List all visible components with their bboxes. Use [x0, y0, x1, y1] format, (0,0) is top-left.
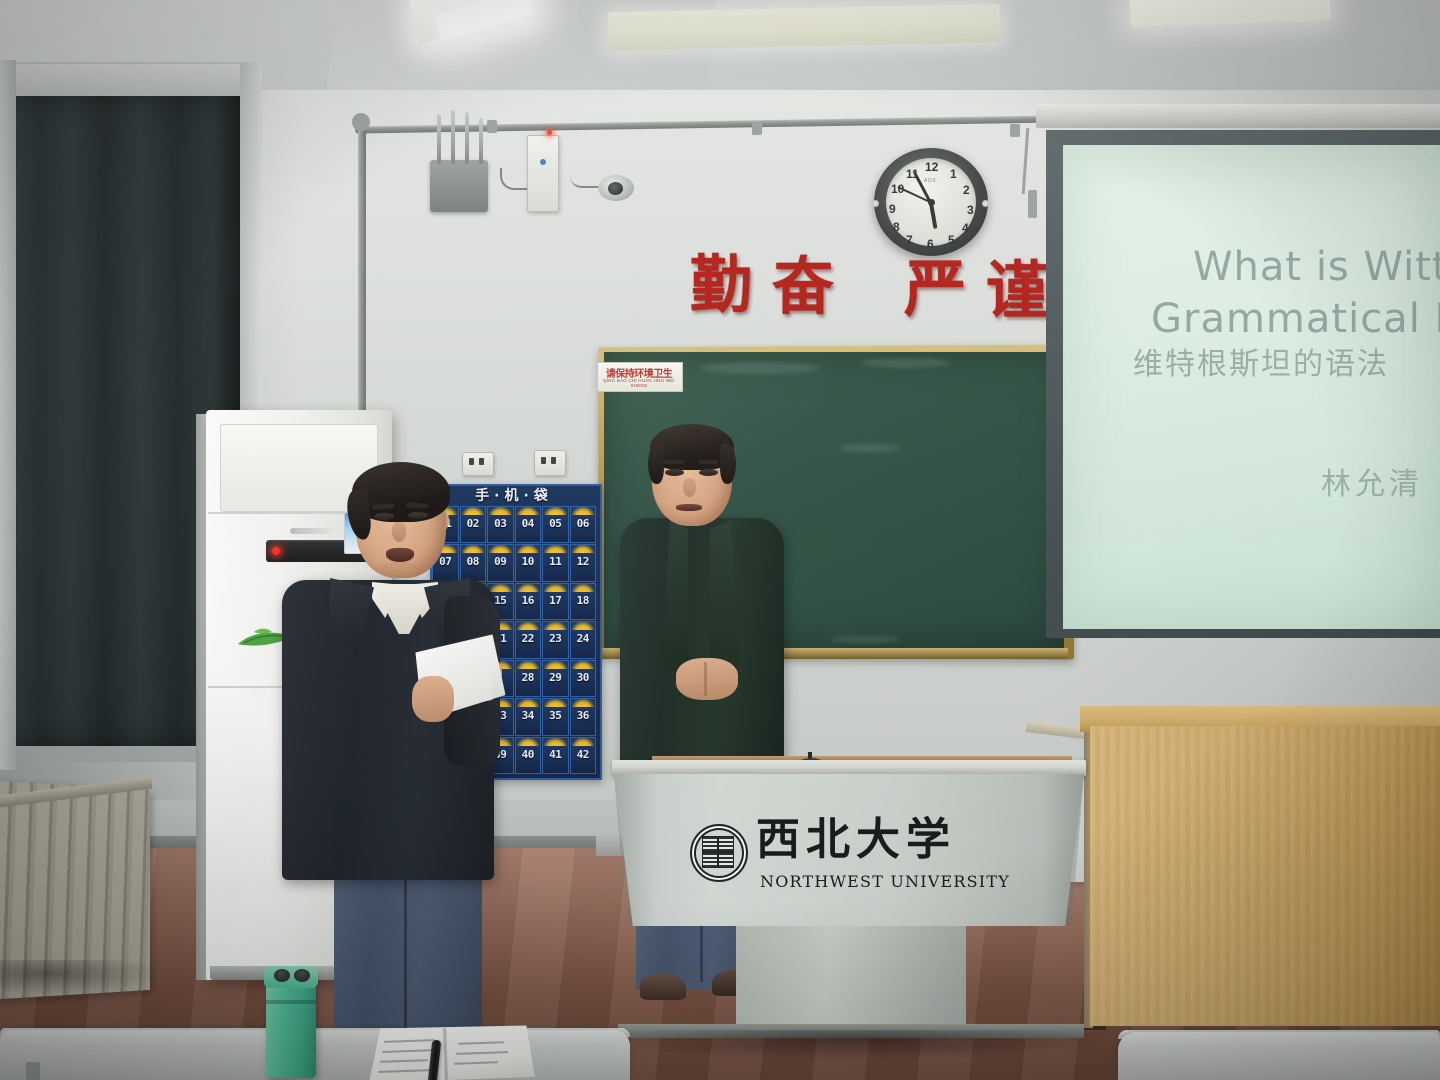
phone-pocket-30[interactable]: 30 — [570, 660, 597, 697]
sensor-wire — [570, 172, 600, 188]
phone-pocket-number: 41 — [543, 748, 568, 761]
ac-brand-logo — [290, 528, 336, 534]
clock-numeral: 2 — [963, 184, 970, 196]
projector-screen-rail — [1036, 104, 1440, 128]
phone-pocket-number: 03 — [488, 517, 513, 530]
thermos-handle-hole — [294, 969, 310, 982]
phone-pocket-number: 10 — [516, 555, 541, 568]
slide-title-line-2: Grammatical Inv — [1151, 295, 1440, 343]
phone-pocket-number: 35 — [543, 709, 568, 722]
front-desk-right — [1118, 1032, 1440, 1080]
phone-pocket-08[interactable]: 08 — [460, 544, 487, 581]
phone-pocket-05[interactable]: 05 — [542, 506, 569, 543]
clock-numeral: 1 — [950, 168, 957, 180]
phone-pocket-number: 11 — [543, 555, 568, 568]
wall-socket[interactable] — [534, 450, 566, 476]
chin — [380, 562, 418, 576]
chalk-smudge — [700, 362, 820, 374]
wall-box-button[interactable] — [540, 159, 546, 165]
wire-connector — [1028, 190, 1037, 218]
signal-jammer-icon — [430, 160, 488, 212]
clock-numeral: 5 — [948, 234, 955, 246]
phone-pocket-number: 22 — [516, 632, 541, 645]
phone-pocket-22[interactable]: 22 — [515, 621, 542, 658]
podium-university-name-en: NORTHWEST UNIVERSITY — [760, 872, 1020, 891]
wall-socket[interactable] — [462, 452, 494, 476]
phone-pocket-number: 05 — [543, 517, 568, 530]
phone-pocket-16[interactable]: 16 — [515, 583, 542, 620]
phone-pocket-03[interactable]: 03 — [487, 506, 514, 543]
phone-pocket-number: 16 — [516, 594, 541, 607]
chalk-smudge — [860, 358, 950, 368]
clock-numeral: 9 — [889, 203, 896, 215]
phone-pocket-42[interactable]: 42 — [570, 737, 597, 774]
radiator-shadow — [0, 960, 160, 994]
podium-university-name-cn: 西北大学 — [756, 812, 1026, 868]
socket-hole — [541, 457, 546, 464]
slogan-char: 谨 — [986, 258, 1048, 324]
phone-pocket-number: 29 — [543, 671, 568, 684]
screen-brand-label: . . . . . — [1070, 112, 1092, 118]
phone-pocket-09[interactable]: 09 — [487, 544, 514, 581]
ac-power-led-icon — [272, 547, 280, 555]
person-center-jacket — [620, 518, 784, 770]
mouth — [676, 504, 702, 511]
clock-numeral: 8 — [893, 221, 900, 233]
thermos-band — [266, 1000, 316, 1004]
phone-pocket-number: 24 — [571, 632, 596, 645]
desk-leg — [26, 1062, 40, 1080]
phone-pocket-10[interactable]: 10 — [515, 544, 542, 581]
phone-pocket-36[interactable]: 36 — [570, 698, 597, 735]
phone-pocket-number: 30 — [571, 671, 596, 684]
phone-pocket-17[interactable]: 17 — [542, 583, 569, 620]
phone-pocket-number: 09 — [488, 555, 513, 568]
antenna-icon — [479, 118, 483, 164]
slogan-char: 严 — [904, 256, 966, 322]
hand-separation — [704, 662, 707, 696]
phone-pocket-28[interactable]: 28 — [515, 660, 542, 697]
phone-pocket-number: 34 — [516, 709, 541, 722]
wall-control-box — [527, 135, 559, 212]
antenna-icon — [465, 112, 469, 164]
nose — [683, 478, 696, 497]
slogan-char: 奋 — [772, 254, 834, 320]
conduit-elbow — [352, 113, 370, 131]
clock-numeral: 4 — [962, 222, 969, 234]
phone-pocket-number: 06 — [571, 517, 596, 530]
thermos-lid[interactable] — [264, 966, 318, 988]
chalk-smudge — [830, 636, 900, 643]
socket-hole — [551, 457, 556, 464]
socket-hole — [479, 458, 484, 465]
phone-pocket-29[interactable]: 29 — [542, 660, 569, 697]
eye — [408, 512, 428, 519]
thermos-handle-hole — [274, 969, 290, 982]
chalk-smudge — [840, 444, 900, 452]
phone-pocket-number: 28 — [516, 671, 541, 684]
notice-subtitle: QING BAO CHI HUAN JING WEI SHENG — [600, 378, 678, 388]
phone-pocket-number: 08 — [461, 555, 486, 568]
phone-pocket-24[interactable]: 24 — [570, 621, 597, 658]
sensor-lens-icon — [608, 182, 623, 195]
antenna-icon — [451, 110, 455, 164]
phone-pocket-number: 18 — [571, 594, 596, 607]
person-center-hair-side — [720, 444, 736, 484]
person-center-hair-side — [648, 444, 664, 484]
phone-pocket-number: 40 — [516, 748, 541, 761]
slide-subtitle-cn: 维特根斯坦的语法 — [1133, 347, 1389, 383]
phone-pocket-11[interactable]: 11 — [542, 544, 569, 581]
phone-pocket-number: 04 — [516, 517, 541, 530]
projector-screen: What is Wittg Grammatical Inv 维特根斯坦的语法 林… — [1063, 145, 1440, 629]
nose — [392, 522, 406, 542]
phone-pocket-number: 02 — [461, 517, 486, 530]
podium-shadow — [610, 1030, 1100, 1060]
phone-pocket-35[interactable]: 35 — [542, 698, 569, 735]
mouth-speaking — [386, 548, 414, 562]
clock-screw — [872, 200, 879, 207]
phone-pocket-12[interactable]: 12 — [570, 544, 597, 581]
slide-title-line-1: What is Wittg — [1193, 243, 1440, 291]
clock-numeral: 3 — [967, 204, 974, 216]
status-led-icon — [547, 130, 552, 135]
phone-pocket-02[interactable]: 02 — [460, 506, 487, 543]
eye — [374, 513, 394, 520]
socket-hole — [469, 458, 474, 465]
phone-pocket-number: 17 — [543, 594, 568, 607]
person-center-shoe — [640, 974, 686, 1000]
phone-pocket-06[interactable]: 06 — [570, 506, 597, 543]
conduit-pipe-vertical — [358, 120, 366, 420]
clock-center-pin — [928, 199, 935, 206]
clock-screw — [982, 200, 989, 207]
phone-pocket-number: 42 — [571, 748, 596, 761]
person-left-hand-near — [412, 676, 454, 722]
phone-pocket-number: 12 — [571, 555, 596, 568]
slide-author: 林允清 — [1321, 467, 1423, 503]
eye — [699, 469, 718, 476]
podium-base — [736, 926, 966, 1026]
antenna-icon — [437, 114, 441, 164]
wood-grain — [1090, 726, 1440, 1026]
clock-numeral: 7 — [906, 234, 913, 246]
phone-pocket-number: 36 — [571, 709, 596, 722]
clock-numeral: 6 — [927, 238, 934, 250]
conduit-clip — [487, 120, 497, 133]
phone-pocket-40[interactable]: 40 — [515, 737, 542, 774]
clock-numeral: 12 — [925, 161, 938, 173]
phone-pocket-18[interactable]: 18 — [570, 583, 597, 620]
university-seal-shield-icon — [702, 836, 734, 868]
phone-pocket-04[interactable]: 04 — [515, 506, 542, 543]
person-center-hands — [676, 658, 738, 700]
phone-pocket-34[interactable]: 34 — [515, 698, 542, 735]
window-jamb-left — [0, 60, 16, 770]
classroom-photo: AOS 12 1 2 3 4 5 6 7 8 9 10 11 勤 奋 严 谨 请… — [0, 0, 1440, 1080]
phone-pocket-number: 23 — [543, 632, 568, 645]
phone-pocket-title: 手·机·袋 — [432, 486, 596, 506]
conduit-clip — [1010, 124, 1020, 137]
phone-pocket-41[interactable]: 41 — [542, 737, 569, 774]
slogan-char: 勤 — [690, 252, 752, 318]
phone-pocket-23[interactable]: 23 — [542, 621, 569, 658]
eye — [665, 469, 684, 476]
conduit-clip — [752, 122, 762, 135]
